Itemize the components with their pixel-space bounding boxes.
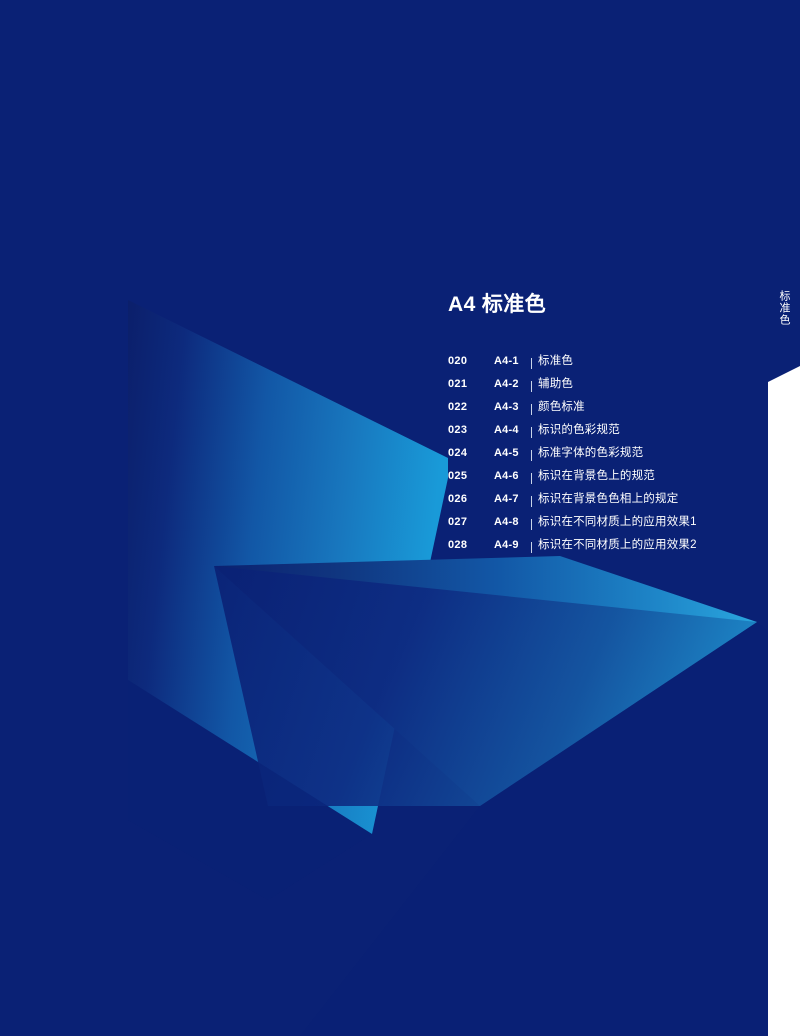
list-item[interactable]: 022 A4-3 颜色标准 xyxy=(448,398,748,421)
toc-separator xyxy=(531,496,532,507)
toc-page-number: 025 xyxy=(448,470,494,482)
section-divider-page: 标准色 A4 标准色 020 A4-1 标准色 021 A4-2 辅助色 022… xyxy=(0,0,800,1036)
toc-section-code: A4-1 xyxy=(494,355,530,367)
chapter-side-tab: 标准色 xyxy=(768,290,800,380)
list-item[interactable]: 021 A4-2 辅助色 xyxy=(448,375,748,398)
toc-section-code: A4-8 xyxy=(494,516,530,528)
toc-item-label: 颜色标准 xyxy=(538,398,585,414)
toc-item-label: 标识在背景色色相上的规定 xyxy=(538,490,678,506)
list-item[interactable]: 020 A4-1 标准色 xyxy=(448,352,748,375)
toc-page-number: 023 xyxy=(448,424,494,436)
toc-item-label: 标识在背景色上的规范 xyxy=(538,467,655,483)
chapter-content: A4 标准色 020 A4-1 标准色 021 A4-2 辅助色 022 A4-… xyxy=(448,292,748,559)
toc-separator xyxy=(531,358,532,369)
page-title: A4 标准色 xyxy=(448,292,748,317)
toc-page-number: 022 xyxy=(448,401,494,413)
toc-item-label: 辅助色 xyxy=(538,375,573,391)
list-item[interactable]: 025 A4-6 标识在背景色上的规范 xyxy=(448,467,748,490)
toc-page-number: 020 xyxy=(448,355,494,367)
toc-section-code: A4-6 xyxy=(494,470,530,482)
table-of-contents: 020 A4-1 标准色 021 A4-2 辅助色 022 A4-3 颜色标准 … xyxy=(448,352,748,559)
toc-separator xyxy=(531,473,532,484)
toc-section-code: A4-5 xyxy=(494,447,530,459)
toc-separator xyxy=(531,404,532,415)
toc-page-number: 027 xyxy=(448,516,494,528)
toc-item-label: 标准字体的色彩规范 xyxy=(538,444,643,460)
toc-separator xyxy=(531,427,532,438)
toc-page-number: 021 xyxy=(448,378,494,390)
toc-separator xyxy=(531,381,532,392)
list-item[interactable]: 028 A4-9 标识在不同材质上的应用效果2 xyxy=(448,536,748,559)
toc-item-label: 标识在不同材质上的应用效果1 xyxy=(538,513,697,529)
chapter-side-tab-label: 标准色 xyxy=(777,290,791,326)
toc-separator xyxy=(531,542,532,553)
toc-item-label: 标识的色彩规范 xyxy=(538,421,620,437)
list-item[interactable]: 027 A4-8 标识在不同材质上的应用效果1 xyxy=(448,513,748,536)
toc-section-code: A4-4 xyxy=(494,424,530,436)
toc-page-number: 028 xyxy=(448,539,494,551)
toc-section-code: A4-7 xyxy=(494,493,530,505)
list-item[interactable]: 023 A4-4 标识的色彩规范 xyxy=(448,421,748,444)
toc-section-code: A4-9 xyxy=(494,539,530,551)
toc-page-number: 024 xyxy=(448,447,494,459)
toc-section-code: A4-3 xyxy=(494,401,530,413)
toc-item-label: 标准色 xyxy=(538,352,573,368)
toc-page-number: 026 xyxy=(448,493,494,505)
list-item[interactable]: 024 A4-5 标准字体的色彩规范 xyxy=(448,444,748,467)
toc-separator xyxy=(531,519,532,530)
toc-item-label: 标识在不同材质上的应用效果2 xyxy=(538,536,697,552)
list-item[interactable]: 026 A4-7 标识在背景色色相上的规定 xyxy=(448,490,748,513)
toc-separator xyxy=(531,450,532,461)
toc-section-code: A4-2 xyxy=(494,378,530,390)
